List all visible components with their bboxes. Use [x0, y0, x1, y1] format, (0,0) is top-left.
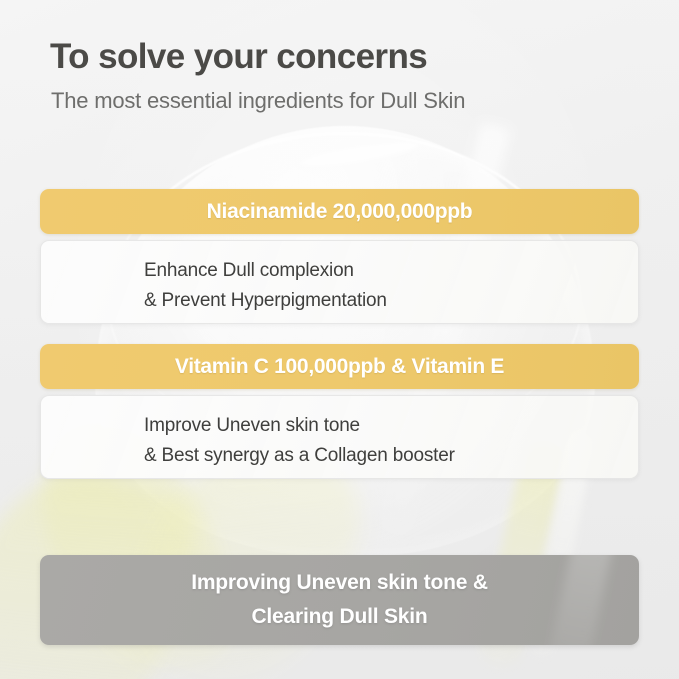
ingredient-benefit-line: Improve Uneven skin tone — [144, 411, 638, 441]
ingredient-benefit-card-1: Enhance Dull complexion & Prevent Hyperp… — [40, 240, 639, 324]
ingredient-name-1: Niacinamide 20,000,000ppb — [207, 200, 473, 224]
content-layer: To solve your concerns The most essentia… — [0, 0, 679, 679]
ingredient-name-bar-1: Niacinamide 20,000,000ppb — [40, 189, 639, 234]
ingredient-benefit-card-2: Improve Uneven skin tone & Best synergy … — [40, 395, 639, 479]
result-summary-line: Clearing Dull Skin — [251, 600, 427, 634]
result-bar-sheen — [544, 555, 614, 645]
ingredient-benefit-line: & Prevent Hyperpigmentation — [144, 286, 638, 316]
page-title: To solve your concerns — [50, 38, 427, 77]
result-summary-line: Improving Uneven skin tone & — [191, 566, 488, 600]
result-summary-bar: Improving Uneven skin tone & Clearing Du… — [40, 555, 639, 645]
ingredient-benefit-line: & Best synergy as a Collagen booster — [144, 441, 638, 471]
product-benefits-infographic: To solve your concerns The most essentia… — [0, 0, 679, 679]
ingredient-name-2: Vitamin C 100,000ppb & Vitamin E — [175, 355, 504, 379]
ingredient-name-bar-2: Vitamin C 100,000ppb & Vitamin E — [40, 344, 639, 389]
ingredient-benefit-line: Enhance Dull complexion — [144, 256, 638, 286]
page-subtitle: The most essential ingredients for Dull … — [51, 88, 465, 114]
